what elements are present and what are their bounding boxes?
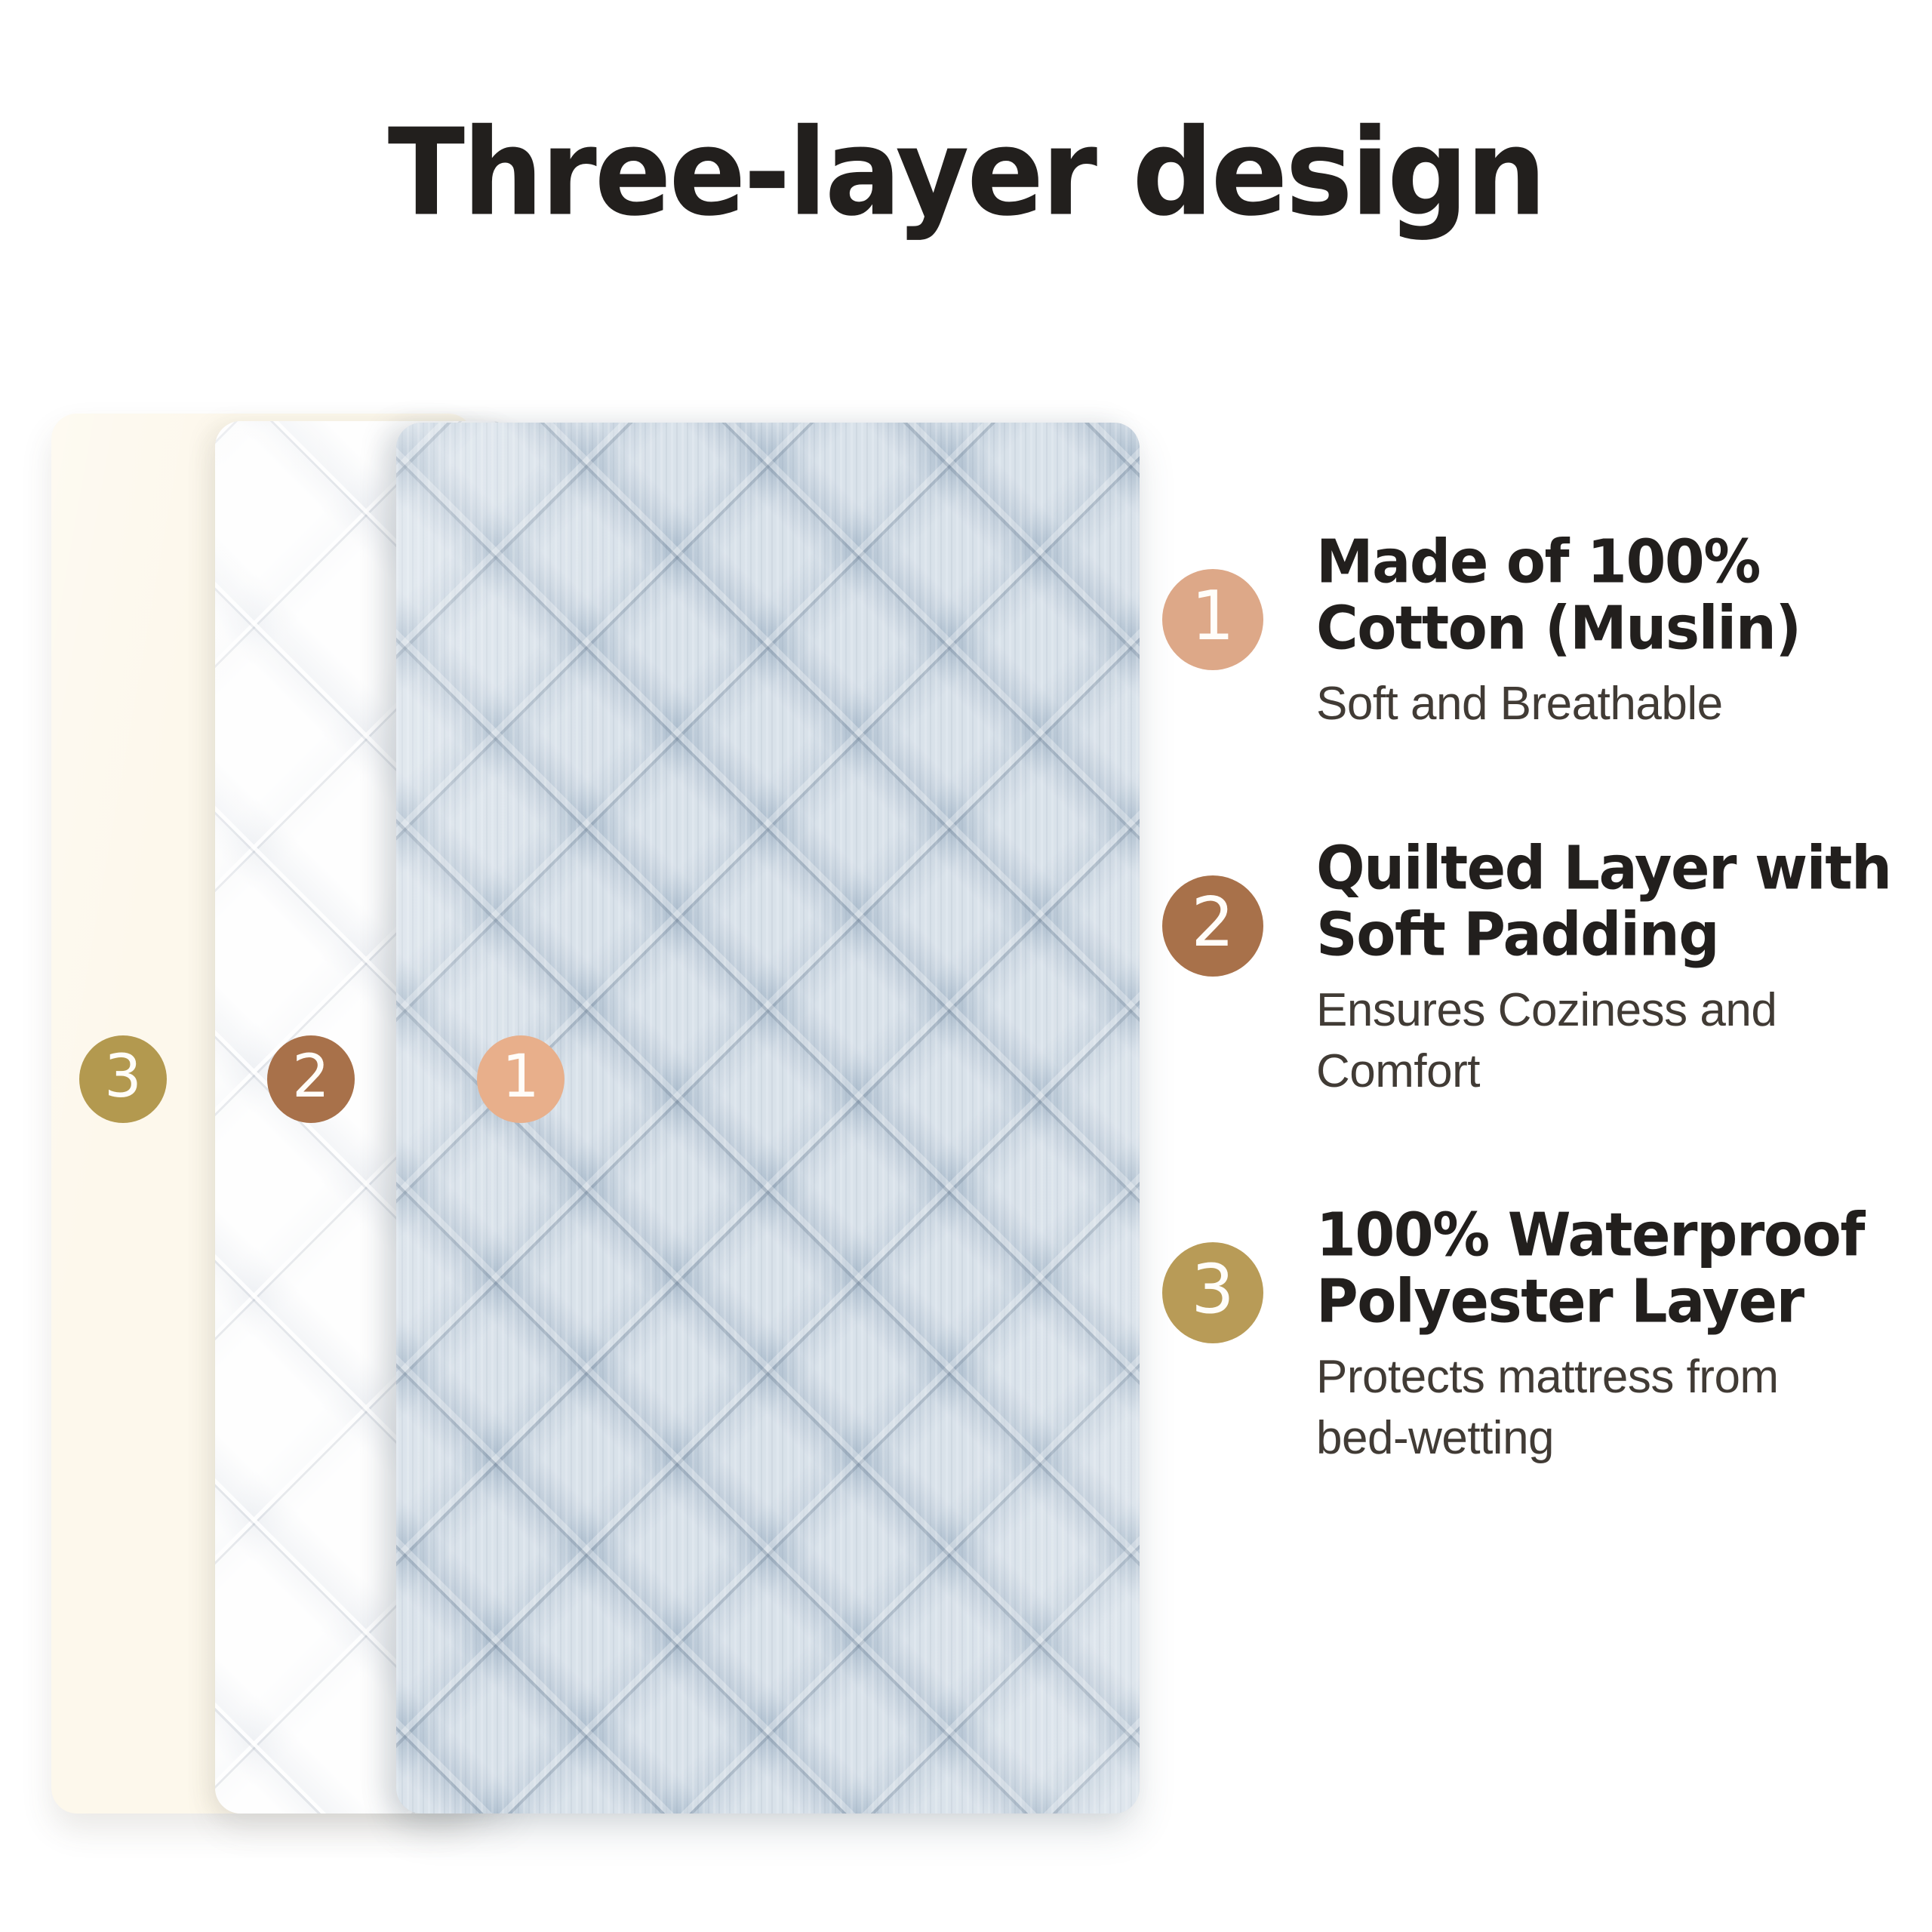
page-title: Three-layer design	[0, 113, 1932, 233]
callout-badge-3-number: 3	[1191, 1256, 1234, 1324]
callout-2-title: Quilted Layer with Soft Padding	[1316, 835, 1891, 968]
feature-callout-2: 2 Quilted Layer with Soft Padding Ensure…	[1162, 835, 1924, 1102]
callout-3-title: 100% Waterproof Polyester Layer	[1316, 1201, 1864, 1334]
feature-callout-3: 3 100% Waterproof Polyester Layer Protec…	[1162, 1201, 1924, 1469]
callout-badge-2: 2	[1162, 875, 1263, 977]
layer-badge-2: 2	[267, 1035, 355, 1123]
callout-3-text: 100% Waterproof Polyester Layer Protects…	[1316, 1201, 1864, 1469]
callout-1-text: Made of 100% Cotton (Muslin) Soft and Br…	[1316, 528, 1801, 735]
callout-badge-1: 1	[1162, 569, 1263, 670]
callout-2-text: Quilted Layer with Soft Padding Ensures …	[1316, 835, 1891, 1102]
layer-badge-1: 1	[477, 1035, 565, 1123]
feature-callout-list: 1 Made of 100% Cotton (Muslin) Soft and …	[1162, 528, 1924, 1569]
callout-1-subtitle: Soft and Breathable	[1316, 674, 1801, 735]
callout-3-subtitle: Protects mattress from bed-wetting	[1316, 1347, 1864, 1469]
layer-badge-1-number: 1	[502, 1048, 540, 1106]
feature-callout-1: 1 Made of 100% Cotton (Muslin) Soft and …	[1162, 528, 1924, 735]
callout-1-title: Made of 100% Cotton (Muslin)	[1316, 528, 1801, 661]
layer-badge-3: 3	[79, 1035, 167, 1123]
callout-badge-3: 3	[1162, 1242, 1263, 1343]
layer-badge-2-number: 2	[292, 1048, 330, 1106]
callout-badge-1-number: 1	[1191, 583, 1234, 651]
product-layer-stack: 3 2 1	[0, 392, 1177, 1826]
layer-badge-3-number: 3	[104, 1048, 142, 1106]
callout-2-subtitle: Ensures Coziness and Comfort	[1316, 980, 1891, 1102]
callout-badge-2-number: 2	[1191, 889, 1234, 957]
